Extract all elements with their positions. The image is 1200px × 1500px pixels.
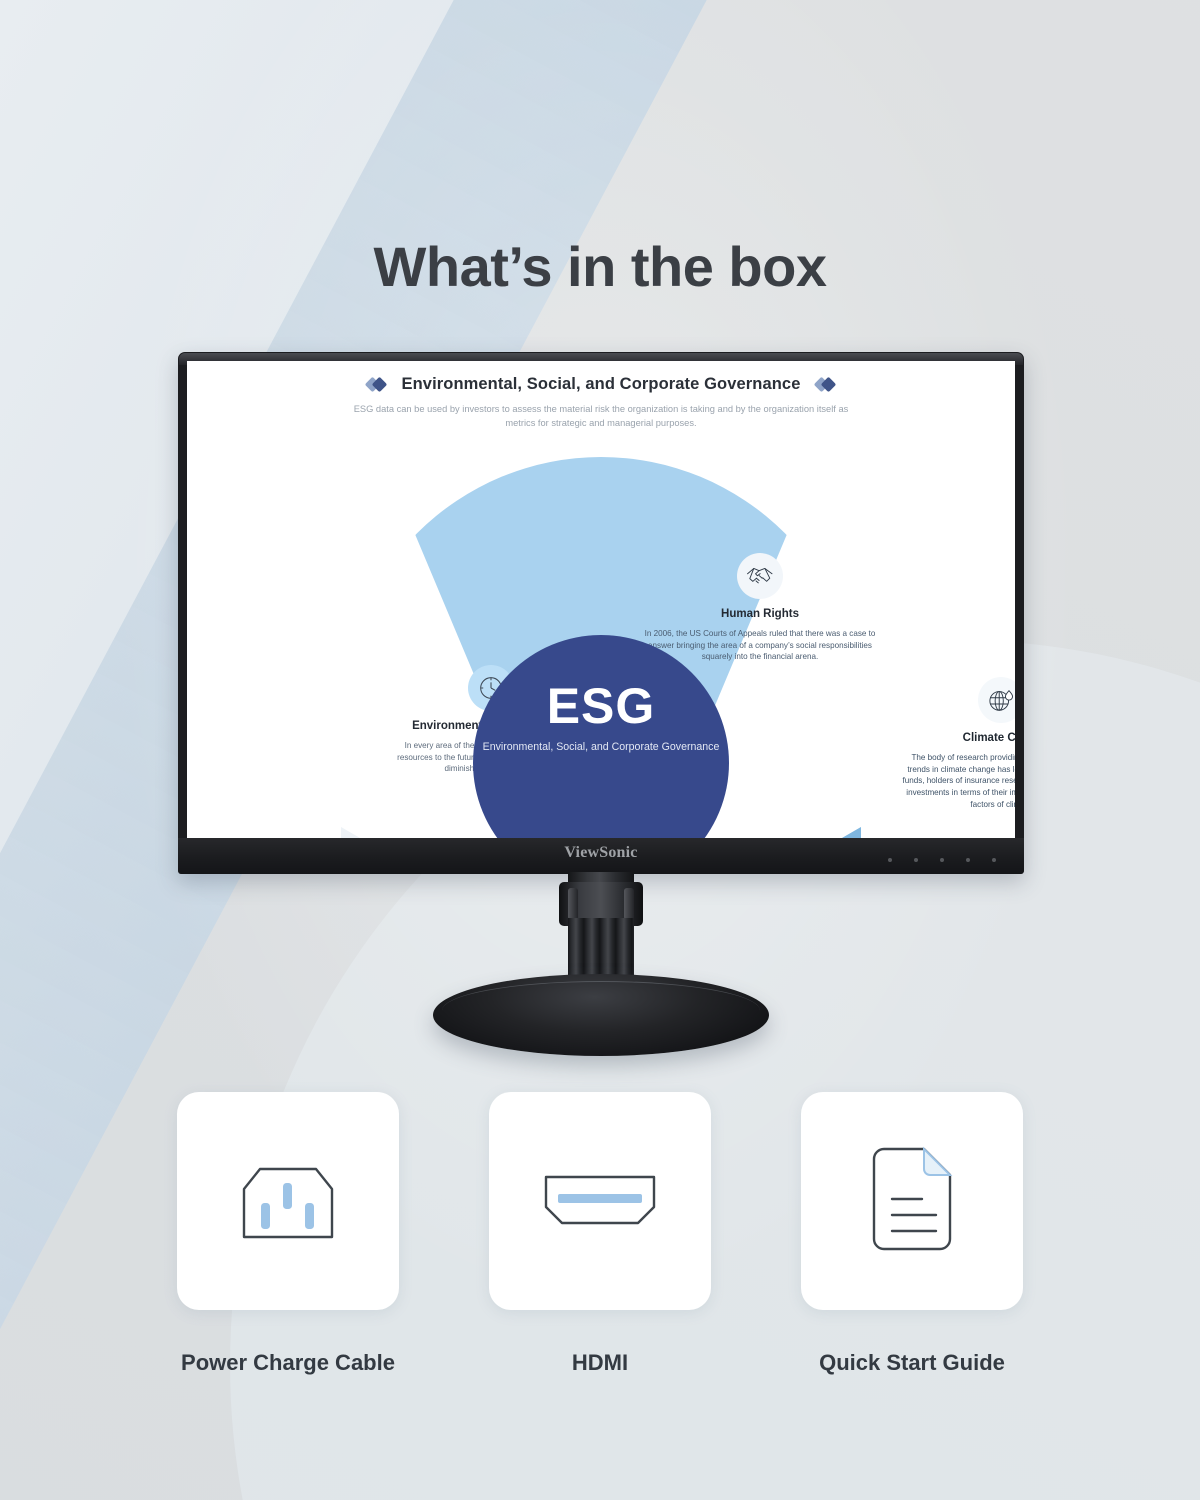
hdmi-port-icon: [536, 1163, 664, 1240]
accessory-label: HDMI: [489, 1348, 711, 1378]
diamond-icon: [367, 378, 386, 392]
diamond-icon: [816, 378, 835, 392]
osd-button[interactable]: [914, 858, 918, 862]
accessory-card[interactable]: [801, 1092, 1023, 1310]
osd-button[interactable]: [992, 858, 996, 862]
section-body: The body of research providing evidence …: [901, 752, 1015, 811]
accessory-quick-start-guide: Quick Start Guide: [801, 1092, 1023, 1378]
monitor-product-image: Environmental, Social, and Corporate Gov…: [178, 352, 1024, 1052]
document-icon: [864, 1143, 960, 1260]
accessory-label: Power Charge Cable: [177, 1348, 399, 1378]
osd-button[interactable]: [940, 858, 944, 862]
osd-button[interactable]: [966, 858, 970, 862]
accessories-section: Power Charge Cable HDMI: [0, 1092, 1200, 1378]
handshake-icon: [737, 553, 783, 599]
section-climate-crisis: Climate Crisis The body of research prov…: [901, 677, 1015, 811]
section-title: Climate Crisis: [901, 731, 1015, 746]
page-title: What’s in the box: [0, 234, 1200, 299]
monitor-screen: Environmental, Social, and Corporate Gov…: [187, 361, 1015, 838]
esg-header: Environmental, Social, and Corporate Gov…: [187, 375, 1015, 431]
monitor-stand-base: [433, 974, 769, 1056]
section-human-rights: Human Rights In 2006, the US Courts of A…: [641, 553, 879, 663]
monitor-panel: Environmental, Social, and Corporate Gov…: [178, 352, 1024, 874]
accessory-label: Quick Start Guide: [801, 1348, 1023, 1378]
section-body: In 2006, the US Courts of Appeals ruled …: [641, 628, 879, 663]
esg-acronym: ESG: [473, 681, 729, 731]
globe-drop-icon: [978, 677, 1015, 723]
section-title: Human Rights: [641, 607, 879, 622]
osd-buttons[interactable]: [888, 858, 996, 862]
power-socket-icon: [228, 1151, 348, 1252]
osd-button[interactable]: [888, 858, 892, 862]
accessory-power-charge-cable: Power Charge Cable: [177, 1092, 399, 1378]
esg-infographic: Environmental, Social, and Corporate Gov…: [187, 361, 1015, 838]
esg-subtitle: ESG data can be used by investors to ass…: [341, 403, 861, 431]
esg-expansion: Environmental, Social, and Corporate Gov…: [473, 740, 729, 755]
esg-title: Environmental, Social, and Corporate Gov…: [402, 375, 801, 394]
accessory-card[interactable]: [489, 1092, 711, 1310]
page-stage: What’s in the box Environmental, Social,…: [0, 0, 1200, 1500]
esg-fan-chart: Environmental Sustainability In every ar…: [341, 457, 861, 838]
accessory-hdmi: HDMI: [489, 1092, 711, 1378]
accessory-card[interactable]: [177, 1092, 399, 1310]
